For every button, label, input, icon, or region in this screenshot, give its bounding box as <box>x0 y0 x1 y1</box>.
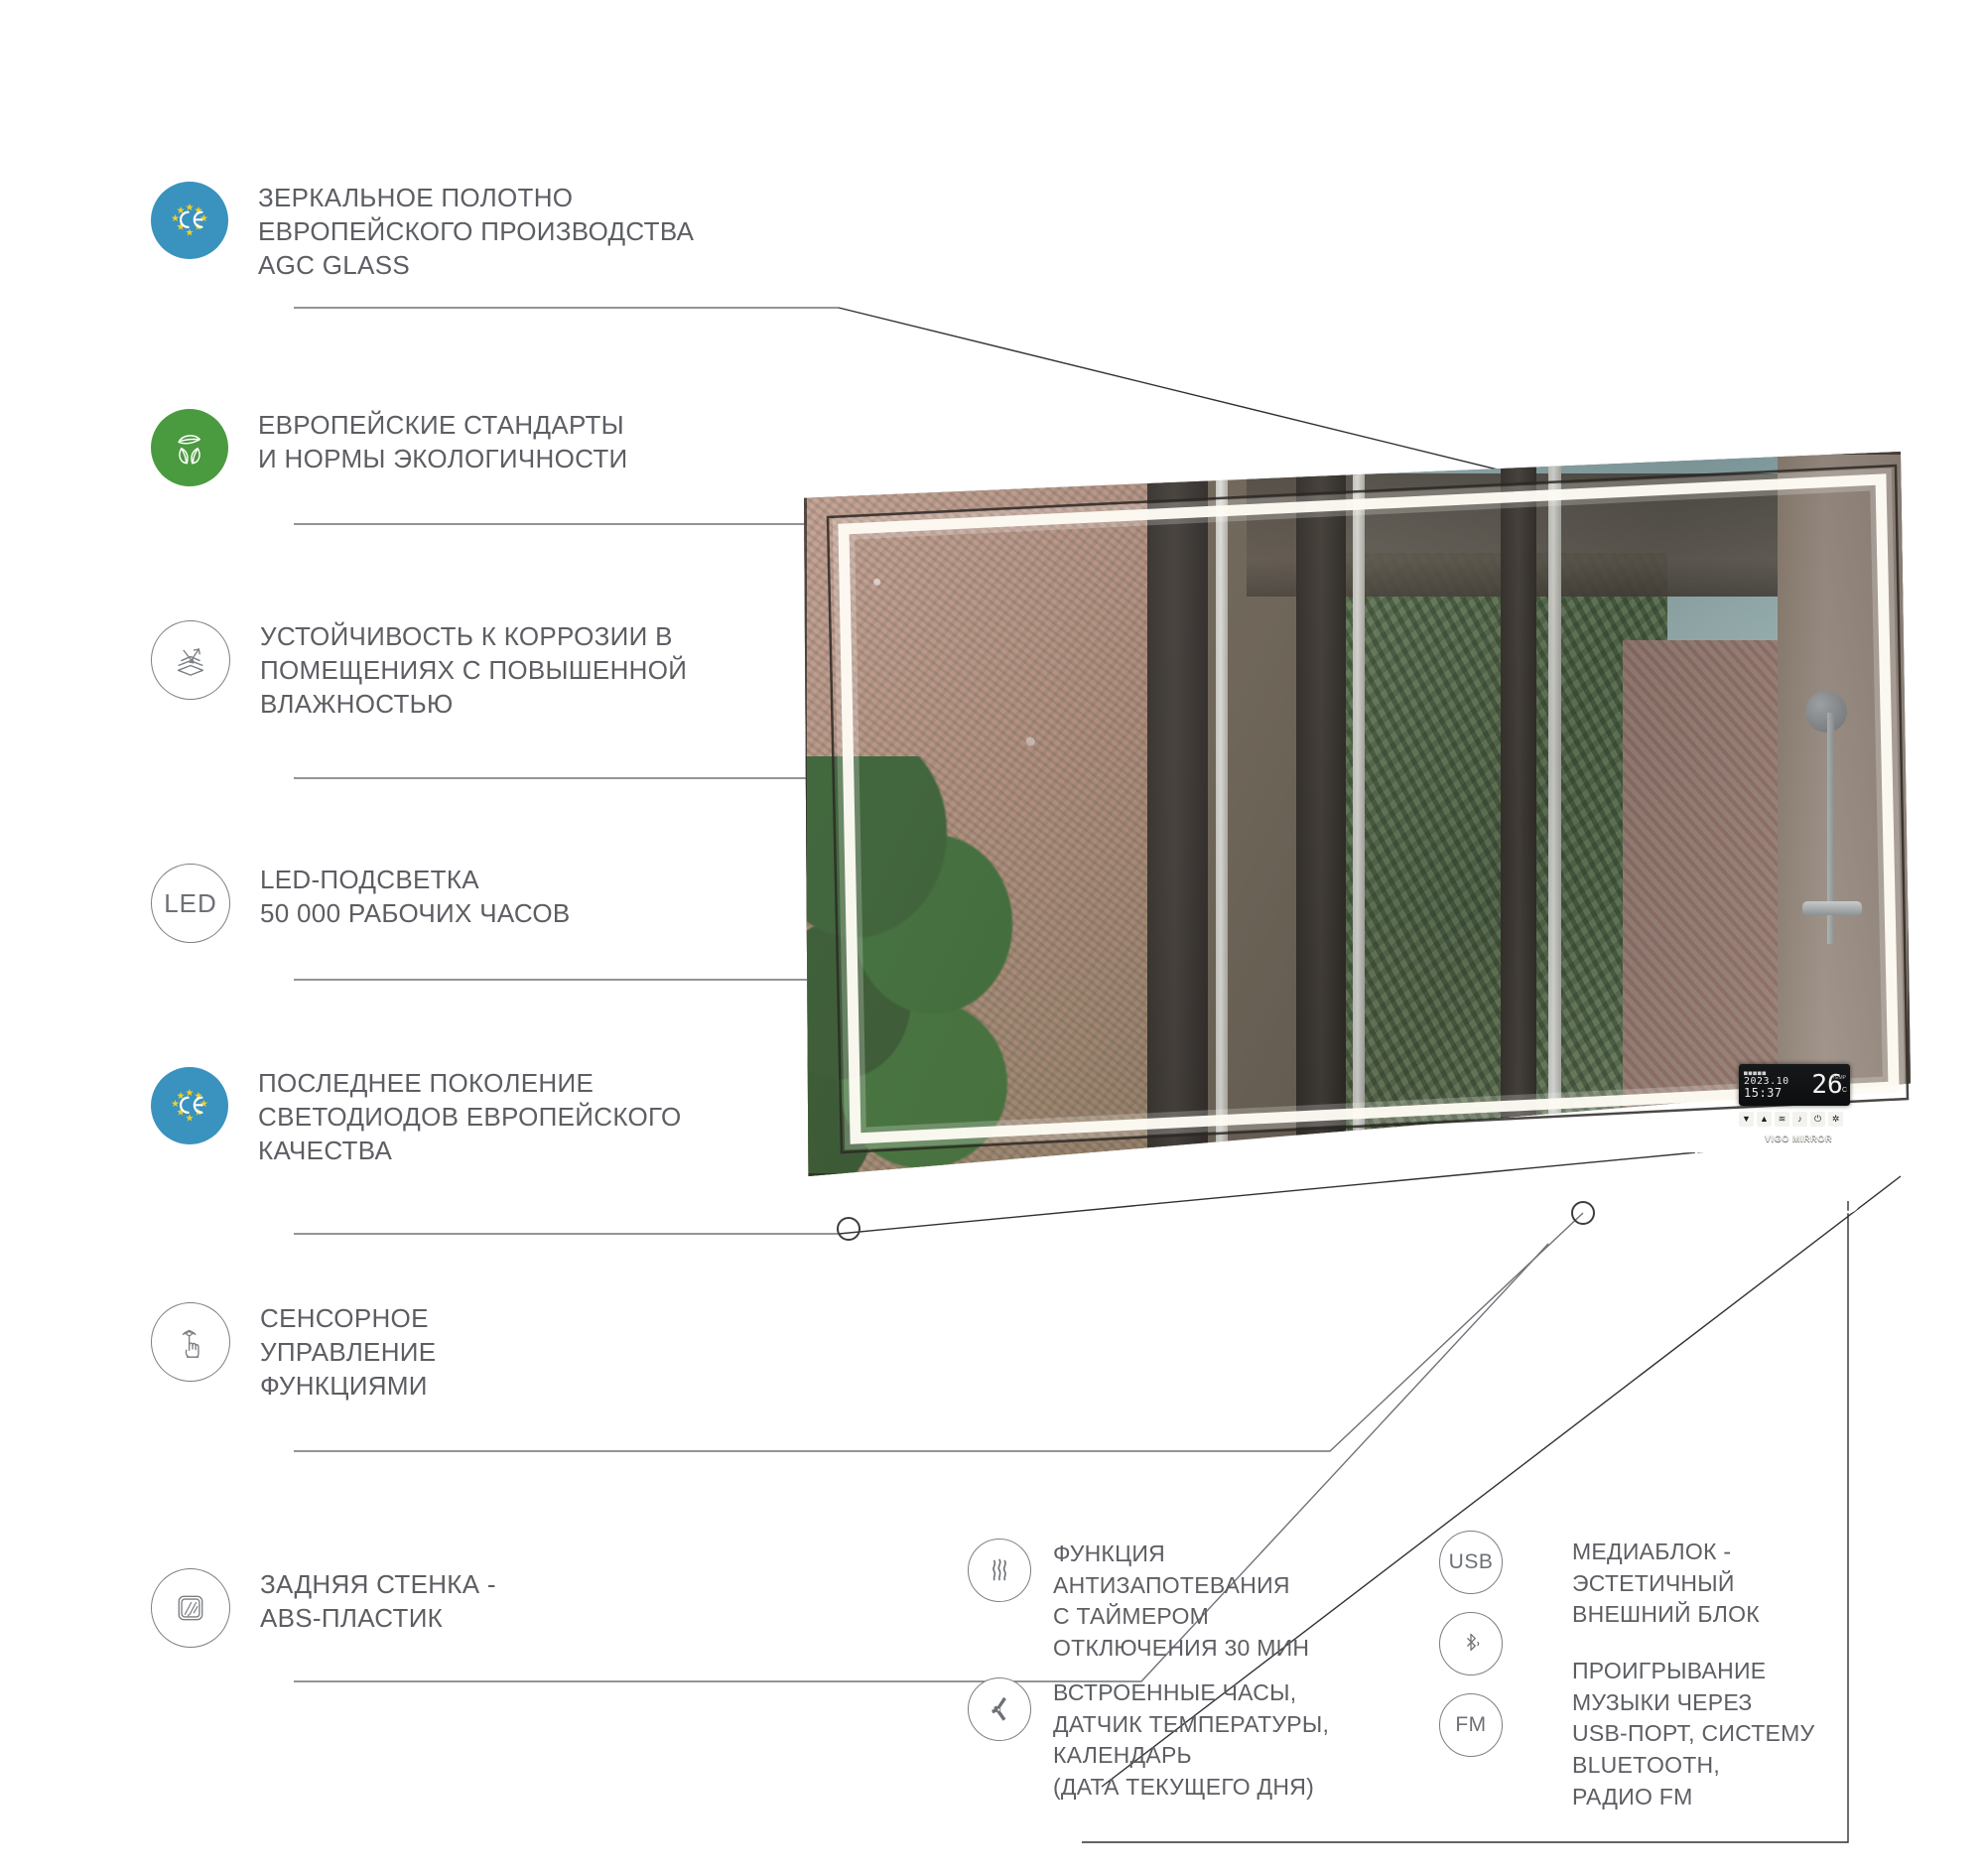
clock-icon <box>968 1677 1031 1741</box>
back-panel-glyph <box>169 1586 212 1630</box>
feature-body: ЗЕРКАЛЬНОЕ ПОЛОТНО ЕВРОПЕЙСКОГО ПРОИЗВОД… <box>258 182 846 282</box>
touch-button-anti-fog[interactable]: ≋ <box>1775 1112 1789 1127</box>
led-icon-label: LED <box>164 888 217 919</box>
feature-body: СЕНСОРНОЕ УПРАВЛЕНИЕ ФУНКЦИЯМИ <box>260 1302 846 1403</box>
usb-icon-label: USB <box>1449 1550 1494 1574</box>
feature-body: УСТОЙЧИВОСТЬ К КОРРОЗИИ В ПОМЕЩЕНИЯХ С П… <box>260 620 846 721</box>
feature-body: ЗАДНЯЯ СТЕНКА - ABS-ПЛАСТИК <box>260 1568 846 1636</box>
lcd-left-block: ■■■■■ 2023.10 15:37 <box>1739 1071 1804 1099</box>
bluetooth-glyph <box>1454 1627 1488 1661</box>
lcd-right-block: TEMP 26 C <box>1804 1073 1850 1098</box>
feature-item-abs-back-panel: ЗАДНЯЯ СТЕНКА - ABS-ПЛАСТИК <box>151 1568 846 1648</box>
lcd-time: 15:37 <box>1744 1087 1804 1099</box>
mirror-control-panel[interactable]: ■■■■■ 2023.10 15:37 TEMP 26 C ▼ ▲ ≋ ♪ ⏻ … <box>1739 1064 1858 1143</box>
touch-button-power[interactable]: ⏻ <box>1810 1112 1825 1127</box>
ce-mark-glyph <box>168 199 211 242</box>
feature-label: ВСТРОЕННЫЕ ЧАСЫ, ДАТЧИК ТЕМПЕРАТУРЫ, КАЛ… <box>1053 1677 1329 1804</box>
touch-hand-icon <box>151 1302 230 1382</box>
fm-icon-label: FM <box>1455 1713 1486 1737</box>
feature-item-agc-glass: ЗЕРКАЛЬНОЕ ПОЛОТНО ЕВРОПЕЙСКОГО ПРОИЗВОД… <box>151 182 846 282</box>
feature-label: ФУНКЦИЯ АНТИЗАПОТЕВАНИЯ С ТАЙМЕРОМ ОТКЛЮ… <box>1053 1539 1309 1665</box>
feature-label: СЕНСОРНОЕ УПРАВЛЕНИЕ ФУНКЦИЯМИ <box>260 1302 846 1403</box>
feature-body: ЕВРОПЕЙСКИЕ СТАНДАРТЫ И НОРМЫ ЭКОЛОГИЧНО… <box>258 409 846 476</box>
feature-label: УСТОЙЧИВОСТЬ К КОРРОЗИИ В ПОМЕЩЕНИЯХ С П… <box>260 620 846 721</box>
feature-item-corrosion-resistance: УСТОЙЧИВОСТЬ К КОРРОЗИИ В ПОМЕЩЕНИЯХ С П… <box>151 620 846 721</box>
feature-item-led-lifetime: LED LED-ПОДСВЕТКА 50 000 РАБОЧИХ ЧАСОВ <box>151 864 846 943</box>
touch-hand-glyph <box>169 1320 212 1364</box>
feature-body: ПОСЛЕДНЕЕ ПОКОЛЕНИЕ СВЕТОДИОДОВ ЕВРОПЕЙС… <box>258 1067 846 1167</box>
lcd-temp-unit: C <box>1842 1087 1847 1094</box>
ce-mark-icon <box>151 182 228 259</box>
layers-arrow-glyph <box>169 638 212 682</box>
touch-button-volume-down[interactable]: ▼ <box>1739 1112 1754 1127</box>
feature-item-clock-calendar: ВСТРОЕННЫЕ ЧАСЫ, ДАТЧИК ТЕМПЕРАТУРЫ, КАЛ… <box>968 1677 1394 1804</box>
eco-leaves-icon <box>151 409 228 486</box>
touch-button-music-note[interactable]: ♪ <box>1792 1112 1807 1127</box>
feature-label: ПОСЛЕДНЕЕ ПОКОЛЕНИЕ СВЕТОДИОДОВ ЕВРОПЕЙС… <box>258 1067 846 1167</box>
led-icon: LED <box>151 864 230 943</box>
feature-label-media-block: МЕДИАБЛОК - ЭСТЕТИЧНЫЙ ВНЕШНИЙ БЛОК <box>1572 1537 1969 1631</box>
feature-body: LED-ПОДСВЕТКА 50 000 РАБОЧИХ ЧАСОВ <box>260 864 846 931</box>
bottom-right-icon-stack: USB FM <box>1439 1531 1548 1757</box>
feature-label: LED-ПОДСВЕТКА 50 000 РАБОЧИХ ЧАСОВ <box>260 864 846 931</box>
usb-icon: USB <box>1439 1531 1503 1594</box>
steam-waves-glyph <box>983 1553 1016 1587</box>
feature-item-anti-fog: ФУНКЦИЯ АНТИЗАПОТЕВАНИЯ С ТАЙМЕРОМ ОТКЛЮ… <box>968 1539 1394 1665</box>
touch-button-bluetooth[interactable]: ✲ <box>1828 1112 1843 1127</box>
feature-item-eco-standards: ЕВРОПЕЙСКИЕ СТАНДАРТЫ И НОРМЫ ЭКОЛОГИЧНО… <box>151 409 846 486</box>
feature-item-european-diodes: ПОСЛЕДНЕЕ ПОКОЛЕНИЕ СВЕТОДИОДОВ ЕВРОПЕЙС… <box>151 1067 846 1167</box>
clock-hands-glyph <box>983 1692 1016 1726</box>
feature-label: ЗЕРКАЛЬНОЕ ПОЛОТНО ЕВРОПЕЙСКОГО ПРОИЗВОД… <box>258 182 846 282</box>
fm-icon: FM <box>1439 1693 1503 1757</box>
feature-label-music-playback: ПРОИГРЫВАНИЕ МУЗЫКИ ЧЕРЕЗ USB-ПОРТ, СИСТ… <box>1572 1656 1969 1813</box>
bluetooth-icon <box>1439 1612 1503 1675</box>
ce-mark-icon <box>151 1067 228 1144</box>
brand-label: VIGO MIRROR <box>1739 1134 1858 1143</box>
anti-fog-icon <box>968 1539 1031 1602</box>
lcd-display: ■■■■■ 2023.10 15:37 TEMP 26 C <box>1739 1064 1850 1106</box>
touch-button-volume-up[interactable]: ▲ <box>1757 1112 1772 1127</box>
infographic-canvas: ■■■■■ 2023.10 15:37 TEMP 26 C ▼ ▲ ≋ ♪ ⏻ … <box>0 0 1985 1876</box>
feature-item-touch-control: СЕНСОРНОЕ УПРАВЛЕНИЕ ФУНКЦИЯМИ <box>151 1302 846 1403</box>
feature-label: ЗАДНЯЯ СТЕНКА - ABS-ПЛАСТИК <box>260 1568 846 1636</box>
back-panel-icon <box>151 1568 230 1648</box>
eco-leaves-glyph <box>168 426 211 469</box>
lcd-temp-tag: TEMP <box>1832 1075 1846 1081</box>
moisture-resistance-icon <box>151 620 230 700</box>
feature-label: ЕВРОПЕЙСКИЕ СТАНДАРТЫ И НОРМЫ ЭКОЛОГИЧНО… <box>258 409 846 476</box>
ce-mark-glyph <box>168 1084 211 1128</box>
touch-button-row[interactable]: ▼ ▲ ≋ ♪ ⏻ ✲ <box>1739 1112 1858 1127</box>
